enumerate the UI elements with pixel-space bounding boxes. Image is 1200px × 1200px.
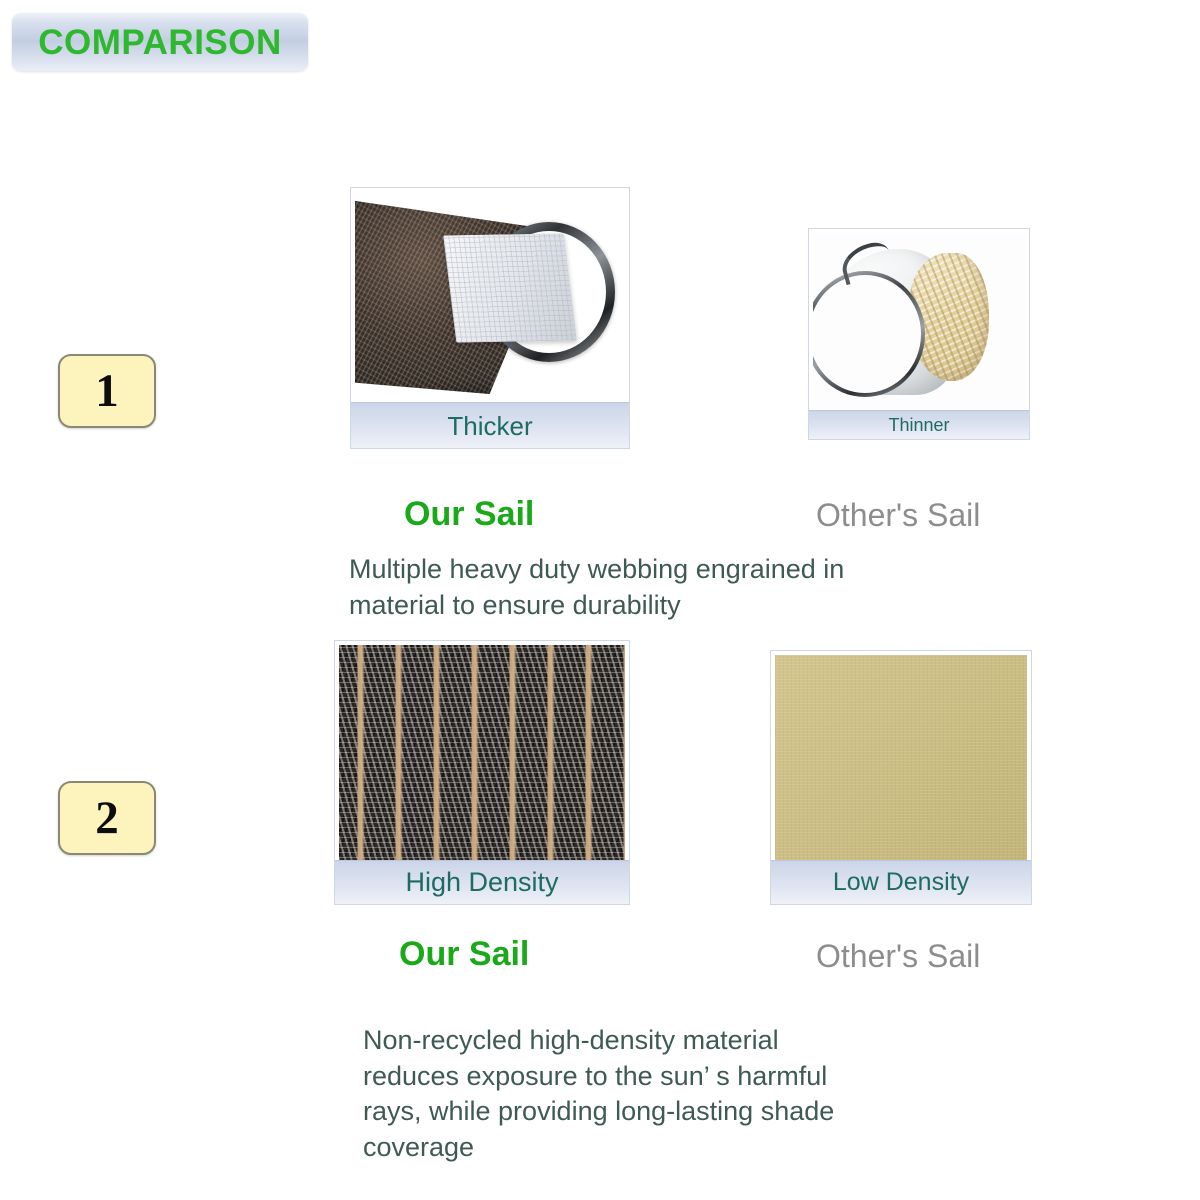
others-sail-label-1: Other's Sail <box>816 499 980 531</box>
high-density-mesh-artwork <box>339 645 625 863</box>
panel-thinner: Thinner <box>808 228 1030 440</box>
thinner-artwork <box>813 233 1025 413</box>
thicker-artwork <box>355 192 625 404</box>
high-density-knitted-mesh-fabric-photo <box>339 645 625 863</box>
thick-sail-corner-with-webbing-and-d-ring-photo <box>355 192 625 404</box>
section-2-description: Non-recycled high-density material reduc… <box>363 1023 933 1166</box>
panel-high-density: High Density <box>334 640 630 905</box>
panel-caption-low-density: Low Density <box>771 860 1031 904</box>
panel-caption-thinner: Thinner <box>809 410 1029 439</box>
others-sail-label-2: Other's Sail <box>816 940 980 972</box>
step-number-1-label: 1 <box>95 368 119 415</box>
panel-caption-high-density: High Density <box>335 860 629 904</box>
thin-sail-corner-with-rope-and-ring-photo <box>813 233 1025 413</box>
step-number-2-label: 2 <box>95 795 119 842</box>
white-heavy-duty-webbing-strap <box>443 233 577 342</box>
panel-thicker: Thicker <box>350 187 630 449</box>
panel-low-density: Low Density <box>770 650 1032 905</box>
our-sail-label-1: Our Sail <box>404 497 534 531</box>
step-number-badge-2: 2 <box>58 781 156 855</box>
low-density-solid-khaki-fabric-photo <box>775 655 1027 863</box>
low-density-fabric-artwork <box>775 655 1027 863</box>
our-sail-label-2: Our Sail <box>399 937 529 971</box>
panel-caption-thicker: Thicker <box>351 402 629 448</box>
comparison-header-badge: COMPARISON <box>12 13 308 71</box>
comparison-header-label: COMPARISON <box>38 25 282 60</box>
step-number-badge-1: 1 <box>58 354 156 428</box>
section-1-description: Multiple heavy duty webbing engrained in… <box>349 552 969 623</box>
